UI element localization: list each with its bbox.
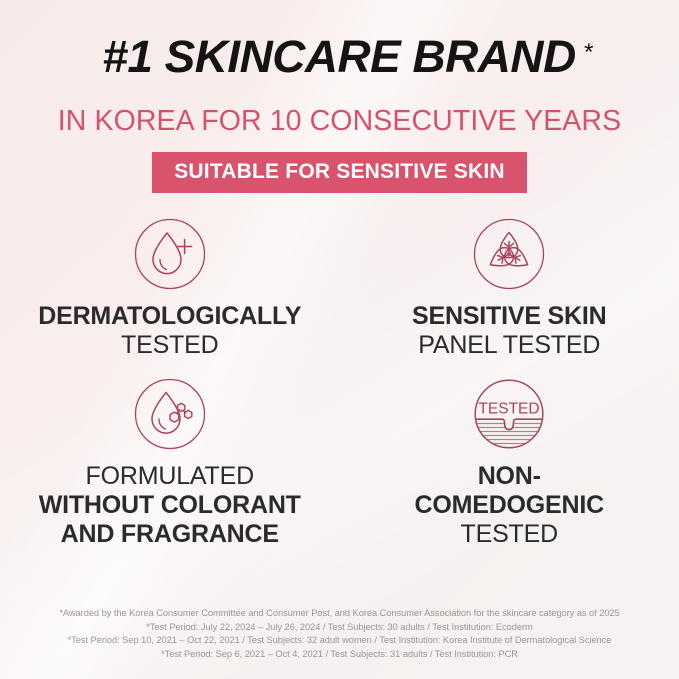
claim-sensitive-skin-panel-tested: SENSITIVE SKIN PANEL TESTED — [340, 214, 679, 360]
claim-formulated-without-colorant-and-fragrance: FORMULATED WITHOUT COLORANT AND FRAGRANC… — [0, 374, 340, 549]
banner-container: SUITABLE FOR SENSITIVE SKIN — [0, 152, 679, 193]
claim-text: DERMATOLOGICALLY TESTED — [38, 302, 301, 360]
claim-line-3: TESTED — [415, 520, 604, 549]
claim-text: FORMULATED WITHOUT COLORANT AND FRAGRANC… — [39, 462, 301, 549]
footnote-line: *Test Period: Sep 6, 2021 – Oct 4, 2021 … — [0, 648, 679, 661]
badge-label: TESTED — [479, 401, 540, 418]
footnote-line: *Test Period: July 22, 2024 – July 26, 2… — [0, 621, 679, 634]
tested-pore-badge-icon: TESTED — [469, 374, 549, 454]
claim-line-2: TESTED — [38, 331, 301, 360]
claims-grid: DERMATOLOGICALLY TESTED — [0, 214, 679, 549]
claim-line-1: DERMATOLOGICALLY — [38, 302, 301, 331]
claim-line-1: FORMULATED — [39, 462, 301, 491]
claim-line-2: PANEL TESTED — [412, 331, 606, 360]
subtitle: IN KOREA FOR 10 CONSECUTIVE YEARS — [0, 104, 679, 138]
footnote-line: *Awarded by the Korea Consumer Committee… — [0, 607, 679, 620]
claim-non-comedogenic-tested: TESTED NON- COMEDOGENIC TESTED — [340, 374, 679, 549]
droplet-plus-icon — [130, 214, 210, 294]
page-title: #1 SKINCARE BRAND* — [103, 31, 576, 83]
promo-graphic: #1 SKINCARE BRAND* IN KOREA FOR 10 CONSE… — [0, 0, 679, 679]
claim-line-1: SENSITIVE SKIN — [412, 302, 606, 331]
claim-line-2: COMEDOGENIC — [415, 491, 604, 520]
claims-row-bottom: FORMULATED WITHOUT COLORANT AND FRAGRANC… — [0, 374, 679, 549]
headline-asterisk: * — [584, 27, 593, 79]
footnotes: *Awarded by the Korea Consumer Committee… — [0, 607, 679, 661]
claim-line-2: WITHOUT COLORANT — [39, 491, 301, 520]
headline-container: #1 SKINCARE BRAND* — [0, 31, 679, 83]
trefoil-leaf-icon — [469, 214, 549, 294]
sensitive-skin-banner: SUITABLE FOR SENSITIVE SKIN — [152, 152, 527, 193]
claim-line-1: NON- — [415, 462, 604, 491]
footnote-line: *Test Period: Sep 10, 2021 – Oct 22, 202… — [0, 634, 679, 647]
droplet-molecule-icon — [130, 374, 210, 454]
claim-dermatologically-tested: DERMATOLOGICALLY TESTED — [0, 214, 340, 360]
claims-row-top: DERMATOLOGICALLY TESTED — [0, 214, 679, 360]
claim-text: SENSITIVE SKIN PANEL TESTED — [412, 302, 606, 360]
claim-line-3: AND FRAGRANCE — [39, 520, 301, 549]
headline-text: #1 SKINCARE BRAND — [103, 31, 576, 82]
claim-text: NON- COMEDOGENIC TESTED — [415, 462, 604, 549]
